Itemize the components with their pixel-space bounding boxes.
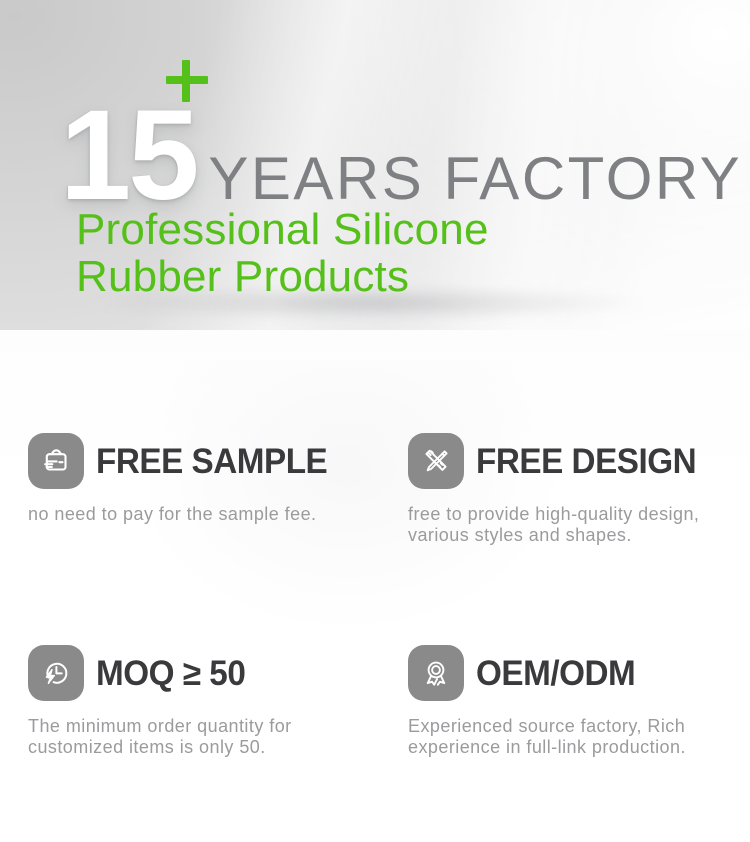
feature-header: OEM/ODM	[408, 644, 750, 702]
promo-banner: 15 YEARS FACTORY Professional Silicone R…	[0, 0, 750, 842]
years-number: 15	[60, 92, 196, 220]
feature-free-sample: FREE SAMPLE no need to pay for the sampl…	[28, 432, 408, 644]
feature-title: MOQ ≥ 50	[96, 656, 245, 691]
feature-title: FREE DESIGN	[476, 444, 696, 479]
features-grid: FREE SAMPLE no need to pay for the sampl…	[0, 432, 750, 758]
feature-header: FREE SAMPLE	[28, 432, 408, 490]
feature-description: The minimum order quantity for customize…	[28, 716, 368, 758]
pencil-ruler-icon	[408, 433, 464, 489]
feature-description: free to provide high-quality design, var…	[408, 504, 726, 546]
feature-title: FREE SAMPLE	[96, 444, 327, 479]
feature-description: Experienced source factory, Rich experie…	[408, 716, 726, 758]
award-ribbon-icon	[408, 645, 464, 701]
package-box-icon	[28, 433, 84, 489]
clock-bolt-icon	[28, 645, 84, 701]
years-factory-label: YEARS FACTORY	[208, 149, 742, 209]
plus-icon	[163, 57, 211, 105]
feature-oem-odm: OEM/ODM Experienced source factory, Rich…	[408, 644, 750, 758]
feature-title: OEM/ODM	[476, 656, 635, 691]
feature-header: MOQ ≥ 50	[28, 644, 408, 702]
feature-free-design: FREE DESIGN free to provide high-quality…	[408, 432, 750, 644]
feature-description: no need to pay for the sample fee.	[28, 504, 368, 525]
hero-headline-row: 15 YEARS FACTORY	[60, 92, 742, 200]
feature-header: FREE DESIGN	[408, 432, 750, 490]
feature-moq: MOQ ≥ 50 The minimum order quantity for …	[28, 644, 408, 758]
